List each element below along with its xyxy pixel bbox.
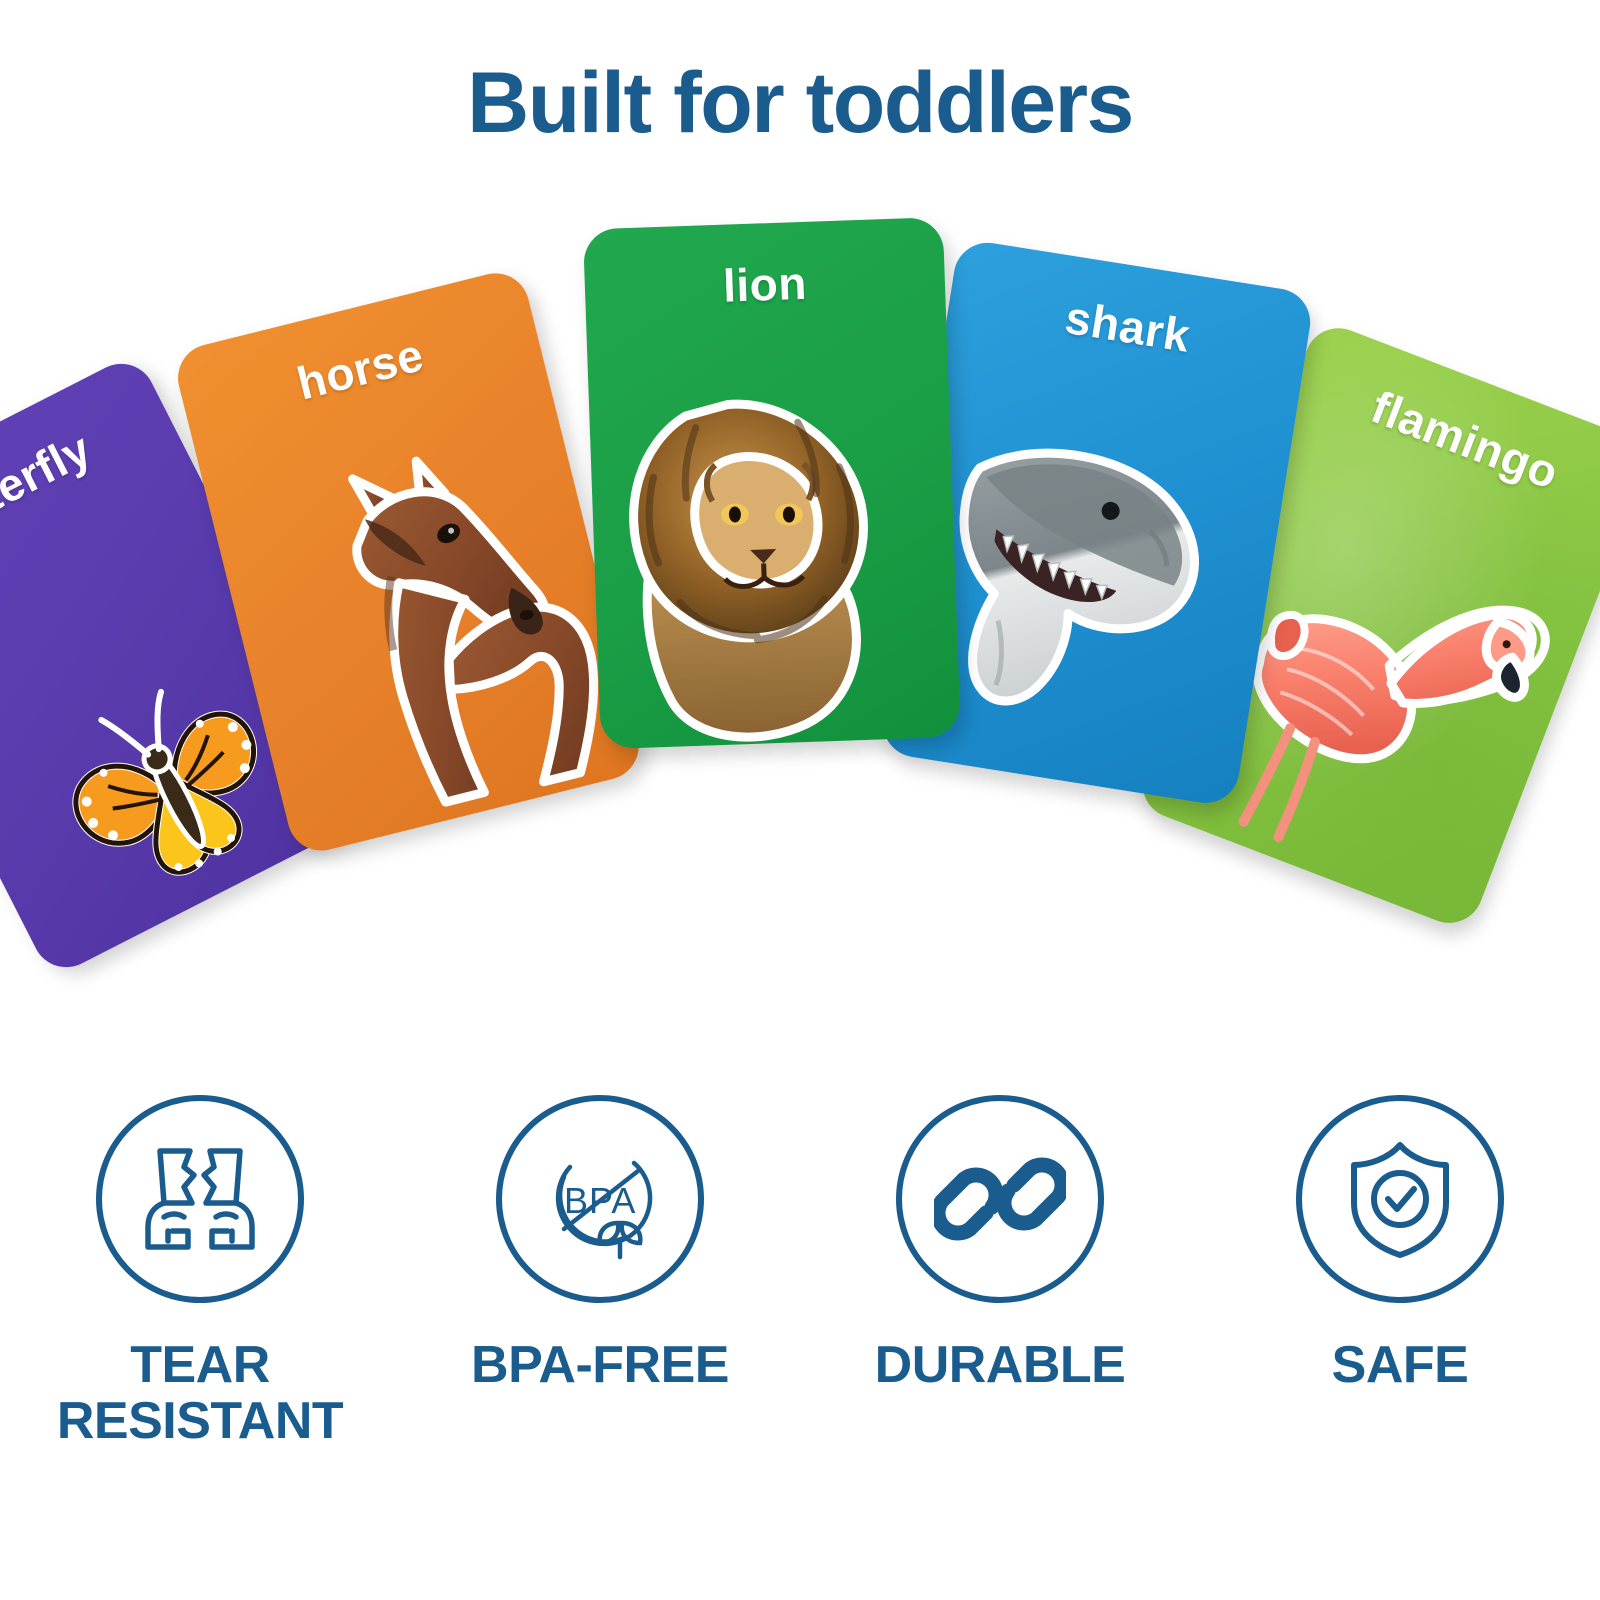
svg-text:BPA: BPA	[564, 1180, 636, 1221]
feature-label: SAFE	[1332, 1337, 1469, 1393]
feature-icon-circle	[1296, 1095, 1504, 1303]
feature-icon-circle	[96, 1095, 304, 1303]
flashcard-lion-face: lion	[583, 217, 961, 749]
horse-illustration	[236, 412, 646, 851]
flashcard-lion[interactable]: lion	[583, 217, 961, 749]
chain-link-icon	[934, 1133, 1066, 1265]
page-title: Built for toddlers	[0, 58, 1600, 148]
flashcard-fan: butterfly	[0, 185, 1600, 1085]
feature-icon-circle	[896, 1095, 1104, 1303]
feature-icon-circle: BPA	[496, 1095, 704, 1303]
flashcard-label: butterfly	[0, 382, 176, 594]
torn-card-hands-icon	[134, 1133, 266, 1265]
feature-bpa-free[interactable]: BPA BPA-FREE	[420, 1095, 780, 1393]
lion-illustration	[597, 347, 960, 749]
feature-badges-row: TEAR RESISTANT BPA BPA-FREE	[0, 1095, 1600, 1535]
shield-check-icon	[1334, 1133, 1466, 1265]
feature-tear-resistant[interactable]: TEAR RESISTANT	[20, 1095, 380, 1449]
feature-safe[interactable]: SAFE	[1220, 1095, 1580, 1393]
flashcard-label: horse	[179, 299, 541, 438]
feature-durable[interactable]: DURABLE	[820, 1095, 1180, 1393]
flashcard-label: lion	[584, 251, 946, 318]
feature-label: TEAR RESISTANT	[57, 1337, 343, 1449]
feature-label: BPA-FREE	[471, 1337, 729, 1393]
flashcard-label: shark	[946, 272, 1310, 382]
feature-label: DURABLE	[875, 1337, 1126, 1393]
bpa-free-icon: BPA	[534, 1133, 666, 1265]
